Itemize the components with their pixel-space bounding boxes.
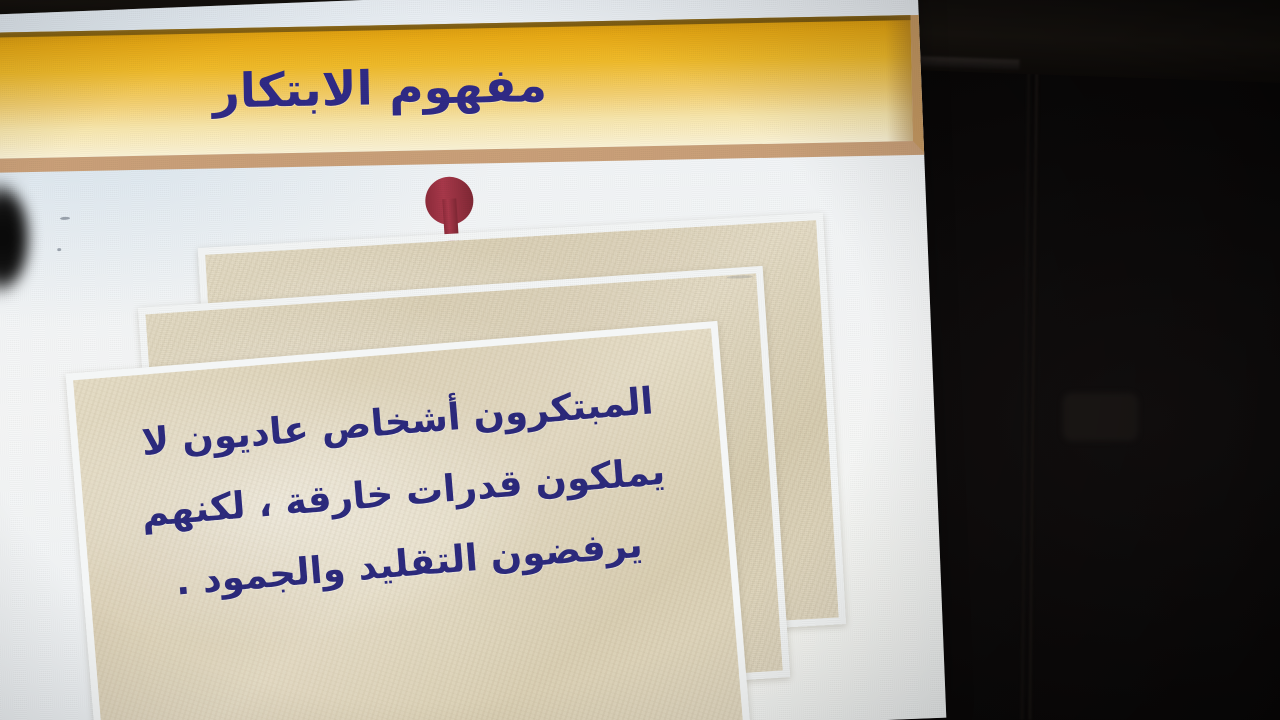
slide-body-text: المبتكرون أشخاص عاديون لا يملكون قدرات خ… [75,354,742,720]
card-front: المبتكرون أشخاص عاديون لا يملكون قدرات خ… [66,321,752,720]
wall-plaque [1063,393,1138,441]
projection-screen: مفهوم الابتكار [0,0,946,720]
title-banner: مفهوم الابتكار [0,15,913,185]
slide-title: مفهوم الابتكار [0,15,913,161]
screen-speck-2 [57,248,61,251]
photo-scene: مفهوم الابتكار [0,0,1280,720]
screen-speck-1 [60,217,70,220]
